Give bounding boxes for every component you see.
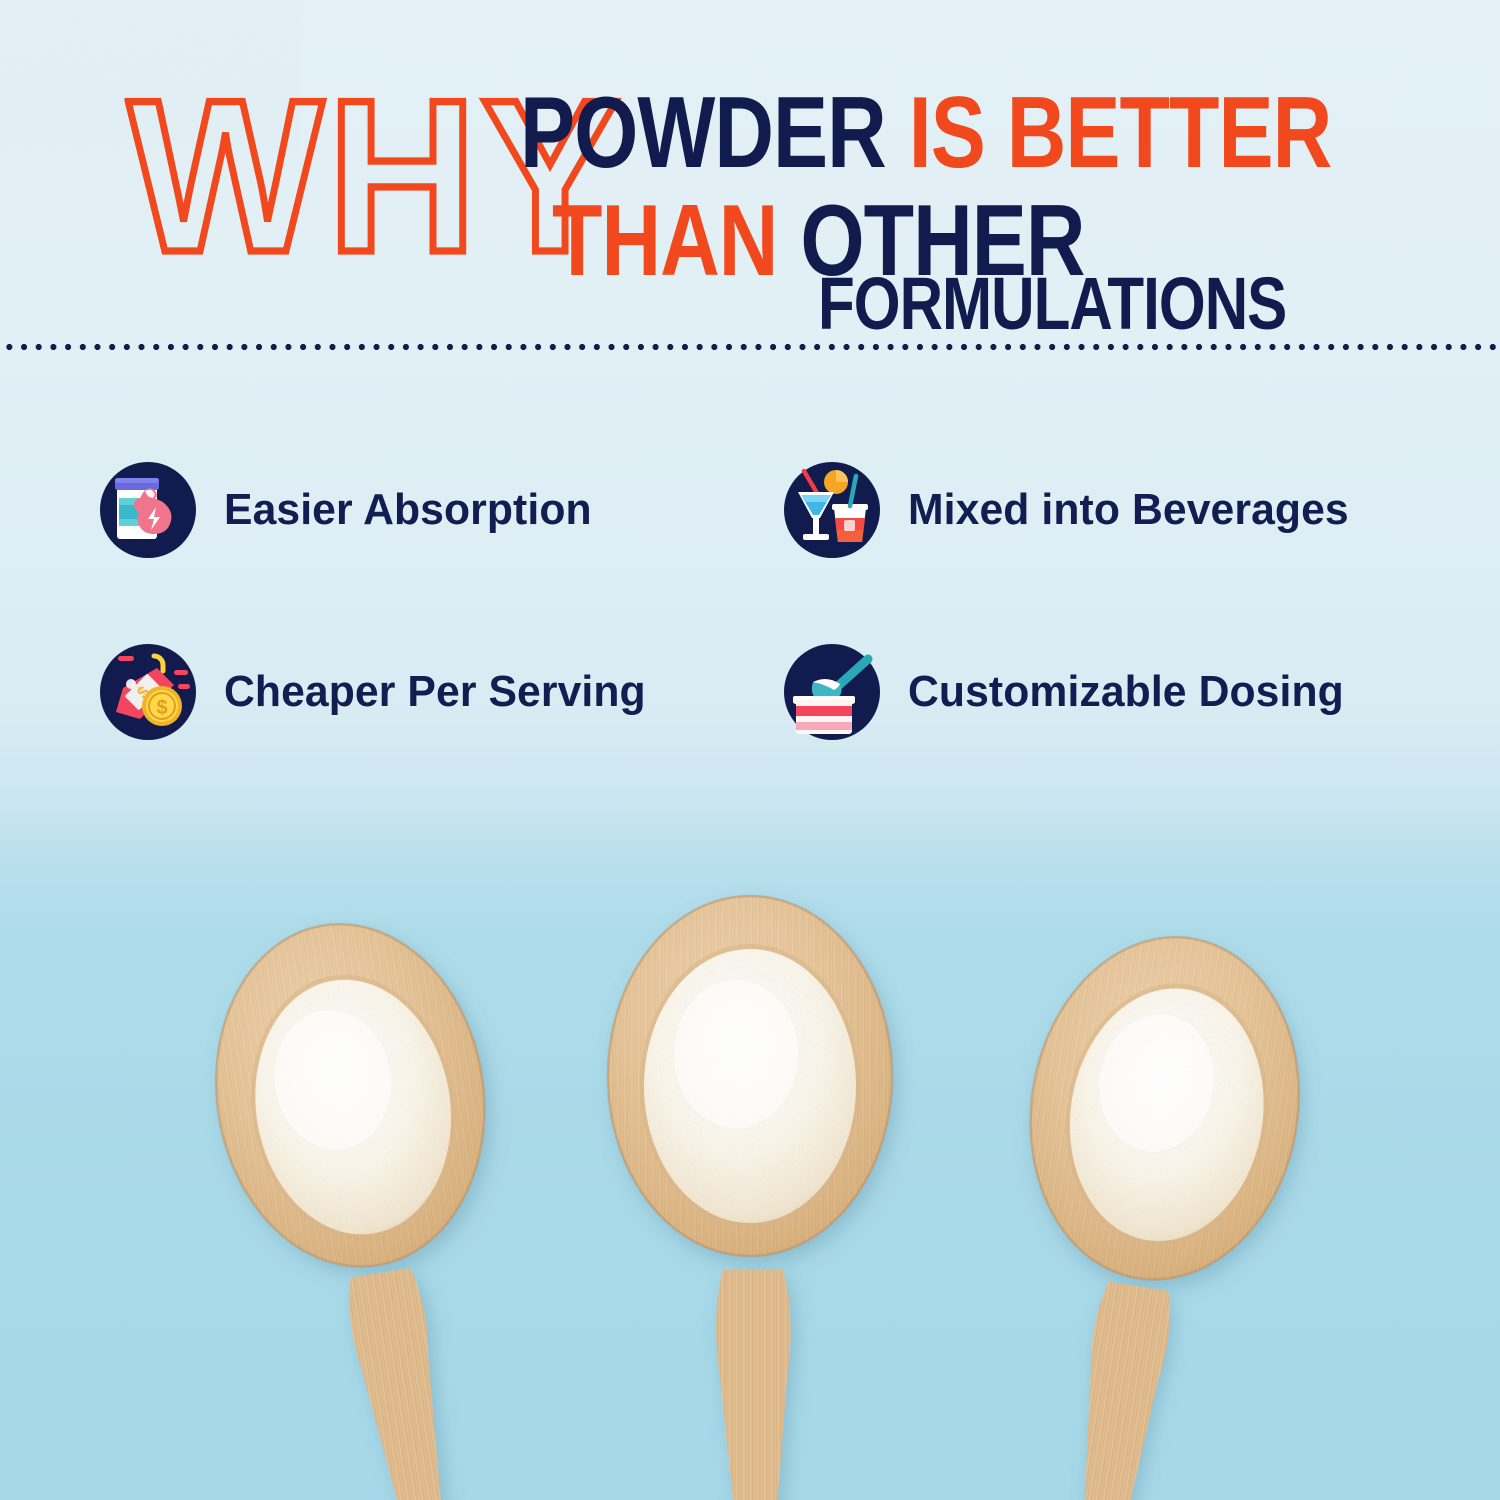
feature-label: Cheaper Per Serving [224, 667, 646, 717]
headline-word-than: THAN [552, 190, 777, 291]
spoon-left [184, 894, 586, 1500]
supplement-jar-stomach-icon [98, 460, 198, 560]
infographic-canvas: WHY POWDER IS BETTER THAN OTHER FORMULAT… [0, 0, 1500, 1500]
spoons-photo [0, 820, 1500, 1500]
spoon-center [600, 888, 910, 1500]
dotted-divider [0, 341, 1500, 353]
headline-word-formulations: FORMULATIONS [818, 268, 1286, 342]
feature-label: Customizable Dosing [908, 667, 1344, 717]
spoon-right [939, 909, 1341, 1500]
scoop-container-icon [782, 642, 882, 742]
feature-item-cheaper-per-serving: $ $ Cheaper Per Serving [98, 642, 659, 742]
headline-block: WHY POWDER IS BETTER THAN OTHER FORMULAT… [0, 0, 1500, 330]
headline-line-3: FORMULATIONS [818, 268, 1286, 342]
feature-list: Easier Absorption [0, 440, 1500, 780]
feature-item-easier-absorption: Easier Absorption [98, 460, 603, 560]
price-tag-coin-icon: $ $ [98, 642, 198, 742]
feature-label: Easier Absorption [224, 485, 592, 535]
feature-item-mixed-into-beverages: Mixed into Beverages [782, 460, 1362, 560]
feature-label: Mixed into Beverages [908, 485, 1349, 535]
spoons-illustration [0, 820, 1500, 1500]
svg-text:$: $ [156, 697, 167, 719]
headline-word-is-better: IS BETTER [909, 82, 1332, 183]
feature-item-customizable-dosing: Customizable Dosing [782, 642, 1357, 742]
headline-word-powder: POWDER [520, 82, 886, 183]
cocktail-beverage-icon [782, 460, 882, 560]
headline-line-1: POWDER IS BETTER [520, 82, 1331, 183]
